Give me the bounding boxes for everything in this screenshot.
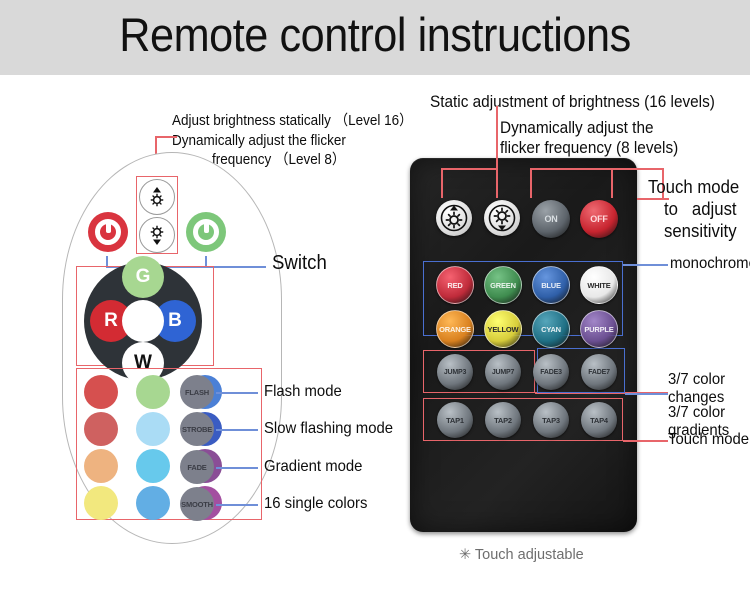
color-swatch[interactable] [136, 375, 170, 409]
brightness-down-button-left[interactable] [139, 217, 175, 253]
label-slow-flashing-mode: Slow flashing mode [264, 420, 393, 439]
mode-button-flash[interactable]: FLASH [180, 375, 214, 409]
connector-touch-mode [623, 440, 668, 442]
right-on-button-label: ON [544, 214, 557, 224]
label-touch-mode: Touch mode [668, 431, 749, 450]
power-icon-on [193, 219, 219, 245]
right-off-button-label: OFF [590, 214, 607, 224]
color-swatch[interactable] [84, 412, 118, 446]
right-jump7-button-label: JUMP7 [492, 369, 514, 376]
label-flicker-dynamic-right-1: Dynamically adjust the [500, 119, 654, 138]
label-flicker-dynamic-left-1: Dynamically adjust the flicker [172, 133, 346, 150]
right-fade7-button[interactable]: FADE7 [581, 354, 617, 390]
color-red-button-label: RED [447, 281, 462, 290]
label-flicker-dynamic-right-2: flicker frequency (8 levels) [500, 139, 678, 158]
connector-onoff-l [530, 168, 532, 198]
brightness-down-icon [487, 203, 517, 233]
connector-fade [216, 467, 258, 469]
connector-onoff-out [611, 168, 663, 170]
rgb-wheel: G R B W [84, 262, 202, 380]
right-brightness-up-button[interactable] [436, 200, 472, 236]
right-on-button[interactable]: ON [532, 200, 570, 238]
label-touch-sensitivity-1: Touch mode [648, 177, 739, 198]
color-blue-button-label: BLUE [541, 281, 561, 290]
connector-monochrome [623, 264, 668, 266]
mode-button-smooth[interactable]: SMOOTH [180, 487, 214, 521]
color-orange-button[interactable]: ORANGE [436, 310, 474, 348]
right-brightness-down-button[interactable] [484, 200, 520, 236]
mode-button-strobe[interactable]: STROBE [180, 412, 214, 446]
connector-onoff-r [611, 168, 613, 198]
connector-brightness-right-top [441, 168, 497, 170]
right-jump3-button-label: JUMP3 [444, 369, 466, 376]
right-tap4-button[interactable]: TAP4 [581, 402, 617, 438]
brightness-up-icon [439, 203, 469, 233]
right-tap2-button-label: TAP2 [494, 416, 512, 425]
wheel-button-green[interactable]: G [122, 256, 164, 298]
color-swatch[interactable] [136, 449, 170, 483]
connector-brightness-right-r [496, 168, 498, 198]
mode-button-fade[interactable]: FADE [180, 450, 214, 484]
wheel-label-blue: B [168, 310, 182, 332]
brightness-up-icon [144, 184, 170, 210]
connector-brightness-left-h [155, 136, 177, 138]
wheel-button-center[interactable] [122, 300, 164, 342]
mode-label-smooth: SMOOTH [181, 500, 213, 509]
color-swatch[interactable] [84, 375, 118, 409]
connector-brightness-right-stem [496, 106, 498, 168]
label-brightness-static-left: Adjust brightness statically （Level 16） [172, 113, 413, 130]
color-white-button-label: WHITE [587, 281, 610, 290]
wheel-label-red: R [104, 310, 118, 332]
power-on-button-left[interactable] [186, 212, 226, 252]
footnote-touch-adjustable: ✳ Touch adjustable [459, 547, 584, 563]
color-purple-button[interactable]: PURPLE [580, 310, 618, 348]
color-swatch[interactable] [136, 412, 170, 446]
right-tap1-button-label: TAP1 [446, 416, 464, 425]
label-gradient-mode: Gradient mode [264, 458, 362, 477]
connector-brightness-right-l [441, 168, 443, 198]
color-yellow-button[interactable]: YELLOW [484, 310, 522, 348]
right-tap3-button[interactable]: TAP3 [533, 402, 569, 438]
label-16-single-colors: 16 single colors [264, 495, 367, 514]
color-green-button-label: GREEN [490, 281, 516, 290]
color-cyan-button[interactable]: CYAN [532, 310, 570, 348]
color-swatch[interactable] [84, 486, 118, 520]
label-monochrome: monochrome [670, 255, 750, 274]
right-tap2-button[interactable]: TAP2 [485, 402, 521, 438]
color-red-button[interactable]: RED [436, 266, 474, 304]
mode-label-strobe: STROBE [182, 425, 212, 434]
label-flicker-dynamic-left-2: frequency （Level 8） [212, 152, 345, 169]
label-touch-sensitivity-3: sensitivity [664, 221, 737, 242]
label-brightness-static-right: Static adjustment of brightness (16 leve… [430, 93, 715, 112]
color-yellow-button-label: YELLOW [488, 325, 519, 334]
connector-smooth [216, 504, 258, 506]
label-color-changes-1: 3/7 color [668, 371, 725, 390]
brightness-up-button-left[interactable] [139, 179, 175, 215]
page-title: Remote control instructions [30, 7, 720, 62]
power-off-button-left[interactable] [88, 212, 128, 252]
right-fade3-button-label: FADE3 [540, 369, 562, 376]
color-purple-button-label: PURPLE [584, 325, 613, 334]
connector-color-gradients [625, 393, 668, 395]
color-white-button[interactable]: WHITE [580, 266, 618, 304]
color-orange-button-label: ORANGE [439, 325, 471, 334]
label-touch-sensitivity-2: to adjust [664, 199, 737, 220]
brightness-down-icon [144, 222, 170, 248]
color-cyan-button-label: CYAN [541, 325, 561, 334]
wheel-label-green: G [136, 266, 151, 288]
color-green-button[interactable]: GREEN [484, 266, 522, 304]
connector-onoff-top [530, 168, 612, 170]
right-tap4-button-label: TAP4 [590, 416, 608, 425]
right-jump7-button[interactable]: JUMP7 [485, 354, 521, 390]
connector-flash [216, 392, 258, 394]
right-off-button[interactable]: OFF [580, 200, 618, 238]
color-swatch[interactable] [84, 449, 118, 483]
right-tap1-button[interactable]: TAP1 [437, 402, 473, 438]
power-icon-off [95, 219, 121, 245]
right-fade7-button-label: FADE7 [588, 369, 610, 376]
label-color-gradients-1: 3/7 color [668, 404, 725, 423]
connector-strobe [216, 429, 258, 431]
right-jump3-button[interactable]: JUMP3 [437, 354, 473, 390]
color-swatch[interactable] [136, 486, 170, 520]
mode-label-flash: FLASH [185, 388, 209, 397]
mode-label-fade: FADE [187, 463, 206, 472]
right-tap3-button-label: TAP3 [542, 416, 560, 425]
label-switch: Switch [272, 252, 327, 276]
color-blue-button[interactable]: BLUE [532, 266, 570, 304]
title-bar: Remote control instructions [0, 0, 750, 75]
label-flash-mode: Flash mode [264, 383, 342, 402]
right-fade3-button[interactable]: FADE3 [533, 354, 569, 390]
page-root: Remote control instructions Adjust brigh… [0, 0, 750, 589]
